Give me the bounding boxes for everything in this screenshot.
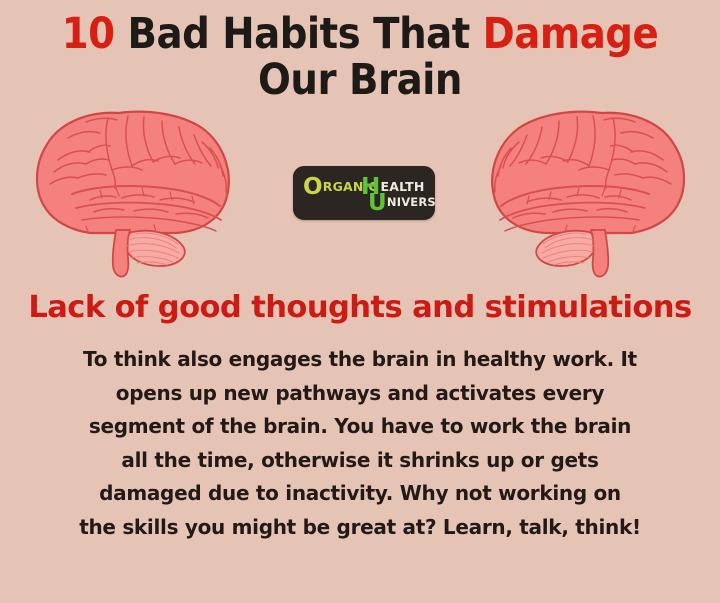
logo-word-universe: UNIVERSE bbox=[368, 195, 435, 209]
logo-rest-health: EALTH bbox=[380, 179, 424, 194]
poster-title: 10 Bad Habits That Damage Our Brain bbox=[0, 12, 720, 103]
title-number: 10 bbox=[62, 9, 115, 59]
body-line: opens up new pathways and activates ever… bbox=[0, 377, 720, 411]
title-emphasis: Damage bbox=[483, 9, 659, 59]
section-headline: Lack of good thoughts and stimulations bbox=[0, 290, 720, 325]
body-line: all the time, otherwise it shrinks up or… bbox=[0, 444, 720, 478]
organic-health-universe-logo[interactable]: ORGANIC HEALTH UNIVERSE bbox=[293, 166, 435, 220]
body-line: segment of the brain. You have to work t… bbox=[0, 410, 720, 444]
brain-illustration-right bbox=[482, 108, 697, 273]
brain-illustration-left bbox=[24, 108, 239, 273]
logo-cap-o: O bbox=[303, 174, 323, 200]
title-line-2: Our Brain bbox=[0, 58, 720, 104]
title-line-1: 10 Bad Habits That Damage bbox=[0, 12, 720, 58]
body-paragraph: To think also engages the brain in healt… bbox=[0, 343, 720, 544]
logo-cap-u: U bbox=[368, 190, 387, 216]
body-line: the skills you might be great at? Learn,… bbox=[0, 511, 720, 545]
body-line: To think also engages the brain in healt… bbox=[0, 343, 720, 377]
body-line: damaged due to inactivity. Why not worki… bbox=[0, 477, 720, 511]
title-mid: Bad Habits That bbox=[115, 9, 483, 59]
infographic-poster: 10 Bad Habits That Damage Our Brain bbox=[0, 0, 720, 603]
logo-rest-universe: NIVERSE bbox=[387, 195, 435, 209]
